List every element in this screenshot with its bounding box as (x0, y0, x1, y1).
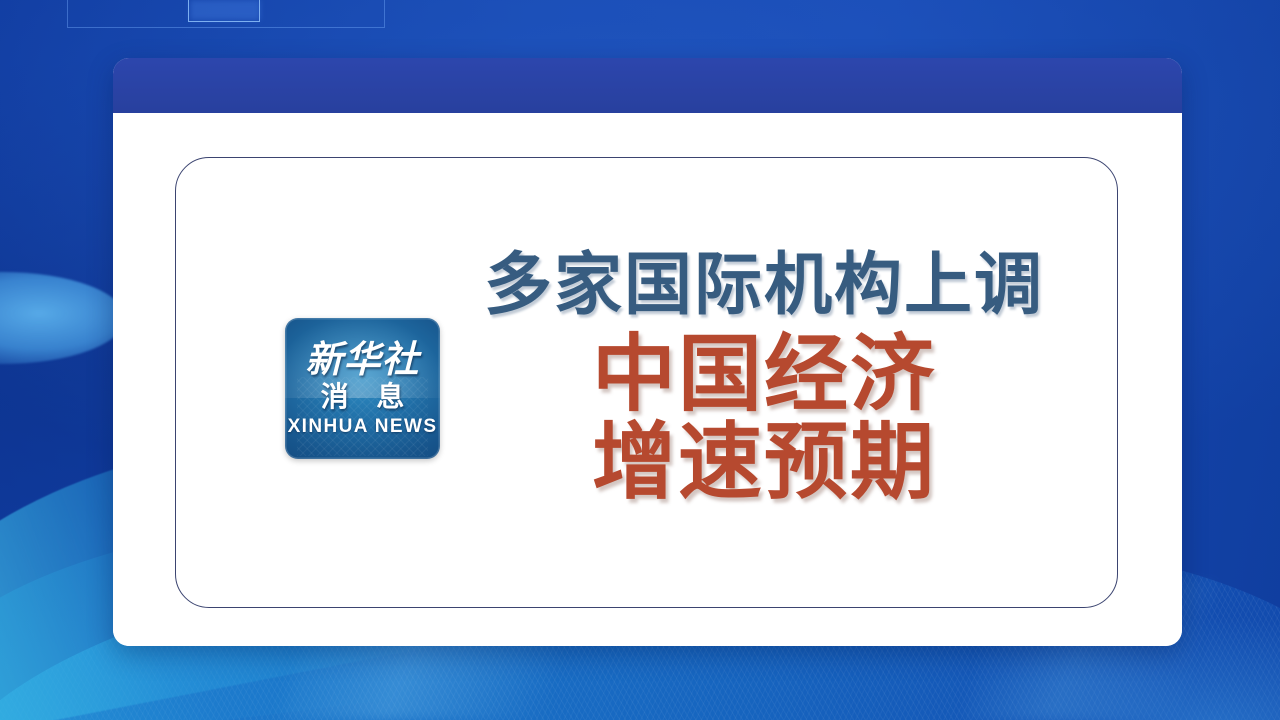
card-content: 新华社 消 息 XINHUA NEWS 多家国际机构上调 中国经济 增速预期 (113, 113, 1182, 646)
logo-chinese-top: 新华社 (306, 341, 420, 378)
logo-chinese-bottom: 消 息 (312, 383, 414, 411)
xinhua-news-logo: 新华社 消 息 XINHUA NEWS (285, 318, 440, 459)
card-body: 新华社 消 息 XINHUA NEWS 多家国际机构上调 中国经济 增速预期 (113, 113, 1182, 646)
news-card: 新华社 消 息 XINHUA NEWS 多家国际机构上调 中国经济 增速预期 (113, 58, 1182, 646)
headline-block: 多家国际机构上调 中国经济 增速预期 (484, 250, 1044, 509)
logo-english-text: XINHUA NEWS (288, 417, 438, 436)
poster-canvas: 新华社 消 息 XINHUA NEWS 多家国际机构上调 中国经济 增速预期 (0, 0, 1280, 720)
decor-outline-rect-small (188, 0, 260, 22)
card-header-bar (113, 58, 1182, 113)
headline-line-3: 增速预期 (484, 415, 1044, 509)
headline-line-2: 中国经济 (484, 327, 1044, 421)
headline-line-1: 多家国际机构上调 (484, 250, 1044, 321)
